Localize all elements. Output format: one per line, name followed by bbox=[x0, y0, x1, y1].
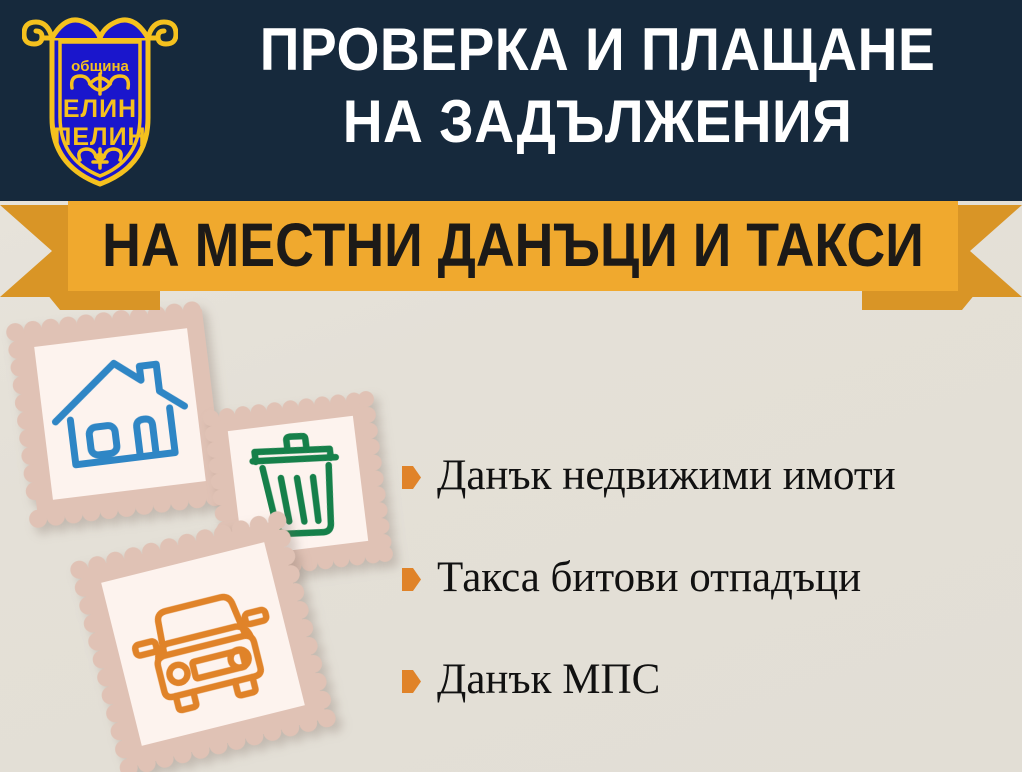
arrow-right-bullet-icon bbox=[402, 670, 421, 693]
list-item-label: Данък МПС bbox=[437, 657, 660, 703]
arrow-right-bullet-icon bbox=[402, 568, 421, 591]
ribbon-fold-left bbox=[42, 288, 160, 310]
list-item[interactable]: Данък недвижими имоти bbox=[402, 425, 1017, 527]
ribbon-label: НА МЕСТНИ ДАНЪЦИ И ТАКСИ bbox=[121, 200, 904, 291]
list-item[interactable]: Данък МПС bbox=[402, 629, 1017, 731]
list-item-label: Такса битови отпадъци bbox=[437, 555, 861, 601]
ribbon-fold-right bbox=[862, 288, 980, 310]
stamp-house-graphic bbox=[5, 299, 235, 529]
poster-root: ПРОВЕРКА И ПЛАЩАНЕ НА ЗАДЪЛЖЕНИЯ община bbox=[0, 0, 1022, 772]
page-title: ПРОВЕРКА И ПЛАЩАНЕ НА ЗАДЪЛЖЕНИЯ bbox=[218, 14, 977, 158]
arrow-right-bullet-icon bbox=[402, 466, 421, 489]
list-item[interactable]: Такса битови отпадъци bbox=[402, 527, 1017, 629]
svg-text:ЕЛИН: ЕЛИН bbox=[63, 95, 137, 123]
list-item-label: Данък недвижими имоти bbox=[437, 453, 896, 499]
ribbon-main-band: НА МЕСТНИ ДАНЪЦИ И ТАКСИ bbox=[68, 200, 958, 291]
ribbon-banner: НА МЕСТНИ ДАНЪЦИ И ТАКСИ bbox=[0, 200, 1022, 315]
municipality-coat-of-arms-shield-icon: община ЕЛИН ПЕЛИН bbox=[22, 8, 178, 190]
stamp-card-house bbox=[5, 299, 235, 529]
tax-types-list: Данък недвижими имоти Такса битови отпад… bbox=[402, 425, 1017, 731]
svg-text:ПЕЛИН: ПЕЛИН bbox=[53, 123, 146, 151]
